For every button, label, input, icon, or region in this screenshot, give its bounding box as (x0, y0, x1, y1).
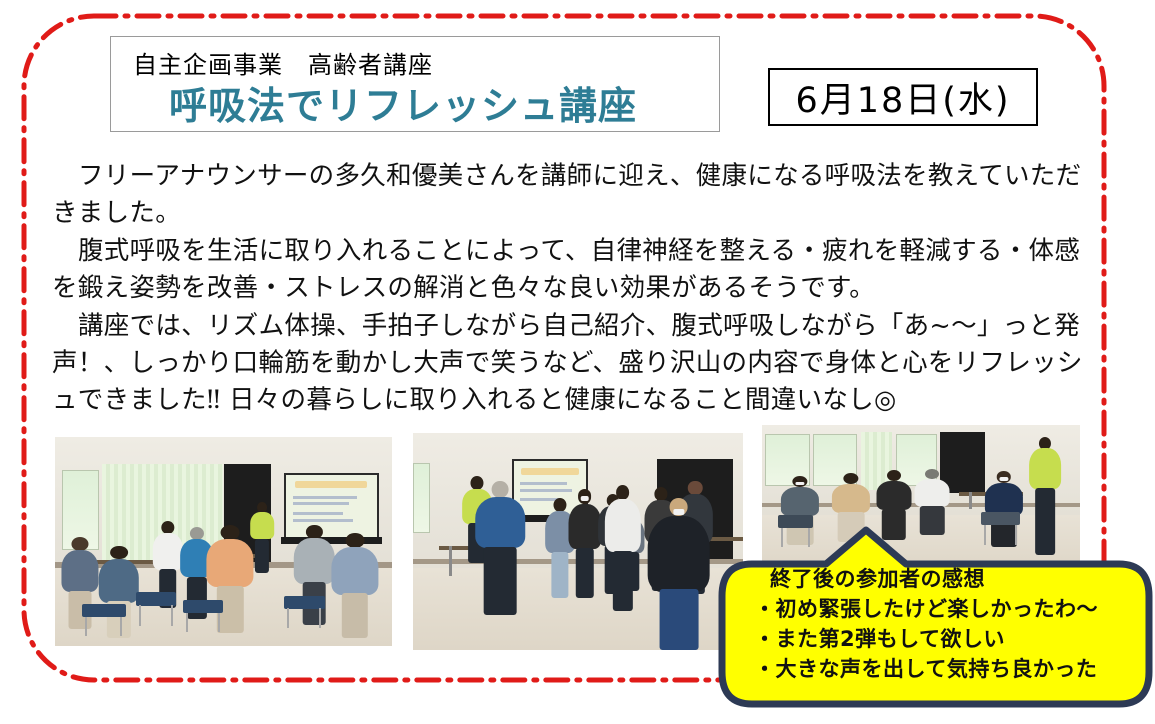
event-date: 6月18日(水) (795, 72, 1010, 123)
page-title: 呼吸法でリフレッシュ講座 (169, 75, 637, 130)
bubble-heading: 終了後の参加者の感想 (770, 564, 1134, 594)
photo-circle-exercise (413, 433, 743, 650)
paragraph-3: 講座では、リズム体操、手拍子しながら自己紹介、腹式呼吸しながら「あ~〜」っと発声… (52, 308, 1092, 419)
body-text: フリーアナウンサーの多久和優美さんを講師に迎え、健康になる呼吸法を教えていただき… (52, 158, 1092, 420)
bubble-item-3: ・大きな声を出して気持ち良かった (754, 654, 1134, 684)
photo-lecture-room-standing (55, 437, 392, 646)
paragraph-2: 腹式呼吸を生活に取り入れることによって、自律神経を整える・疲れを軽減する・体感を… (52, 233, 1092, 307)
date-box: 6月18日(水) (768, 68, 1038, 126)
paragraph-1: フリーアナウンサーの多久和優美さんを講師に迎え、健康になる呼吸法を教えていただき… (52, 158, 1092, 232)
flyer-page: 自主企画事業 高齢者講座 呼吸法でリフレッシュ講座 6月18日(水) フリーアナ… (0, 0, 1155, 724)
bubble-item-1: ・初め緊張したけど楽しかったわ〜 (754, 594, 1134, 624)
participant-feedback-bubble: 終了後の参加者の感想 ・初め緊張したけど楽しかったわ〜 ・また第2弾もして欲しい… (716, 520, 1155, 710)
title-box: 自主企画事業 高齢者講座 呼吸法でリフレッシュ講座 (110, 36, 720, 132)
bubble-item-2: ・また第2弾もして欲しい (754, 624, 1134, 654)
